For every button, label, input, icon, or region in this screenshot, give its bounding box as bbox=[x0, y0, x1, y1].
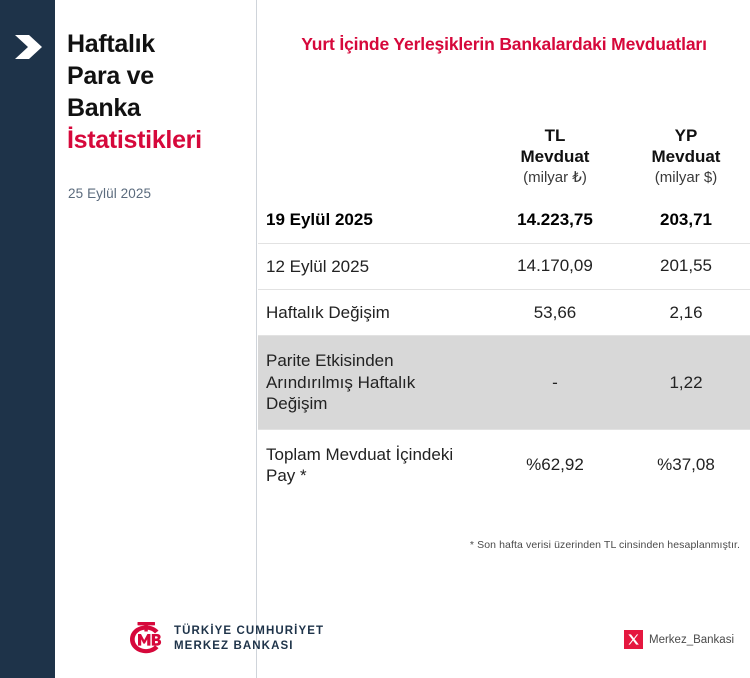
row-label: 12 Eylül 2025 bbox=[258, 243, 488, 289]
table-row: Haftalık Değişim 53,66 2,16 bbox=[258, 290, 750, 336]
column-header-yp-line-2: Mevduat bbox=[652, 147, 721, 166]
column-header-tl-line-1: TL bbox=[545, 126, 566, 145]
social-handle-label: Merkez_Bankasi bbox=[649, 634, 734, 646]
title-panel: Haftalık Para ve Banka İstatistikleri 25… bbox=[55, 0, 257, 678]
tcmb-logo-icon bbox=[125, 620, 167, 658]
table-footnote: * Son hafta verisi üzerinden TL cinsinde… bbox=[258, 539, 740, 551]
row-value-tl: - bbox=[488, 336, 622, 429]
row-label: Toplam Mevduat İçindeki Pay * bbox=[258, 429, 488, 500]
page-title-line-3: Banka bbox=[67, 92, 252, 124]
table-row: Parite Etkisinden Arındırılmış Haftalık … bbox=[258, 336, 750, 429]
column-header-tl-line-2: Mevduat bbox=[521, 147, 590, 166]
row-value-yp: 203,71 bbox=[622, 197, 750, 243]
row-value-yp: 1,22 bbox=[622, 336, 750, 429]
publication-date: 25 Eylül 2025 bbox=[68, 186, 151, 201]
deposits-table: TL Mevduat (milyar ₺) YP Mevduat (milyar… bbox=[258, 125, 750, 501]
row-label: Parite Etkisinden Arındırılmış Haftalık … bbox=[258, 336, 488, 429]
column-header-tl-unit: (milyar ₺) bbox=[488, 169, 622, 188]
row-value-yp: 201,55 bbox=[622, 243, 750, 289]
row-value-tl: 14.170,09 bbox=[488, 243, 622, 289]
column-header-label-spacer bbox=[258, 125, 488, 197]
column-header-yp-line-1: YP bbox=[675, 126, 698, 145]
column-header-yp-unit: (milyar $) bbox=[622, 169, 750, 188]
row-value-tl: %62,92 bbox=[488, 429, 622, 500]
table-body: 19 Eylül 2025 14.223,75 203,71 12 Eylül … bbox=[258, 197, 750, 500]
page-root: Haftalık Para ve Banka İstatistikleri 25… bbox=[0, 0, 750, 678]
content-area: Yurt İçinde Yerleşiklerin Bankalardaki M… bbox=[258, 0, 750, 678]
row-value-tl: 14.223,75 bbox=[488, 197, 622, 243]
column-header-tl: TL Mevduat (milyar ₺) bbox=[488, 125, 622, 197]
table-row: Toplam Mevduat İçindeki Pay * %62,92 %37… bbox=[258, 429, 750, 500]
table-row: 19 Eylül 2025 14.223,75 203,71 bbox=[258, 197, 750, 243]
chevron-right-icon bbox=[12, 30, 44, 64]
row-value-yp: 2,16 bbox=[622, 290, 750, 336]
row-label: Haftalık Değişim bbox=[258, 290, 488, 336]
page-title: Haftalık Para ve Banka İstatistikleri bbox=[67, 28, 252, 156]
social-handle[interactable]: Merkez_Bankasi bbox=[624, 630, 734, 649]
page-title-line-1: Haftalık bbox=[67, 28, 252, 60]
page-title-line-4-accent: İstatistikleri bbox=[67, 124, 252, 156]
page-title-line-2: Para ve bbox=[67, 60, 252, 92]
table-title: Yurt İçinde Yerleşiklerin Bankalardaki M… bbox=[268, 33, 740, 56]
table-header-row: TL Mevduat (milyar ₺) YP Mevduat (milyar… bbox=[258, 125, 750, 197]
table-row: 12 Eylül 2025 14.170,09 201,55 bbox=[258, 243, 750, 289]
sidebar-rail bbox=[0, 0, 55, 678]
column-header-yp: YP Mevduat (milyar $) bbox=[622, 125, 750, 197]
table-header: TL Mevduat (milyar ₺) YP Mevduat (milyar… bbox=[258, 125, 750, 197]
row-value-tl: 53,66 bbox=[488, 290, 622, 336]
row-label: 19 Eylül 2025 bbox=[258, 197, 488, 243]
row-value-yp: %37,08 bbox=[622, 429, 750, 500]
x-twitter-icon[interactable] bbox=[624, 630, 643, 649]
